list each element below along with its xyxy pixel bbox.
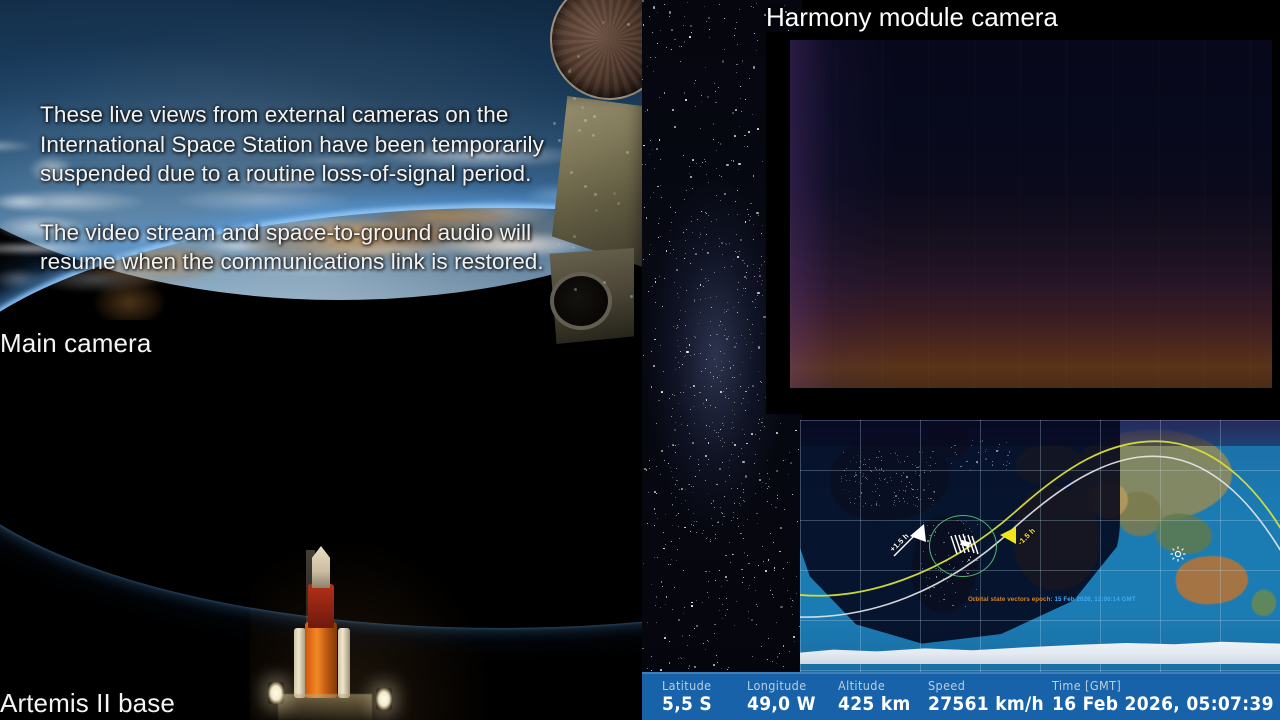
telemetry-field-time: Time [GMT]16 Feb 2026, 05:07:39 bbox=[1052, 678, 1274, 716]
telemetry-label-latitude: Latitude bbox=[662, 678, 712, 693]
telemetry-value-speed: 27561 km/h bbox=[928, 693, 1044, 716]
telemetry-value-altitude: 425 km bbox=[838, 693, 911, 716]
harmony-camera-panel[interactable] bbox=[766, 32, 1280, 414]
los-paragraph-2: The video stream and space-to-ground aud… bbox=[40, 218, 600, 277]
hardware-detail-dot bbox=[626, 151, 629, 154]
sun-position-icon bbox=[1170, 546, 1186, 562]
harmony-video-feed bbox=[790, 40, 1272, 388]
epoch-value: 15 Feb 2026, 12:00:14 GMT bbox=[1054, 596, 1135, 603]
harmony-camera-label: Harmony module camera bbox=[766, 2, 1058, 33]
telemetry-value-latitude: 5,5 S bbox=[662, 693, 712, 716]
orion-upper-stage bbox=[308, 584, 334, 628]
past-ground-track bbox=[800, 456, 1280, 617]
telemetry-value-longitude: 49,0 W bbox=[747, 693, 816, 716]
pad-floodlight-right bbox=[376, 688, 392, 710]
telemetry-field-speed: Speed27561 km/h bbox=[928, 678, 1044, 716]
telemetry-bar: Latitude5,5 SLongitude49,0 WAltitude425 … bbox=[642, 672, 1280, 720]
stream-composite: These live views from external cameras o… bbox=[0, 0, 1280, 720]
orbital-epoch-note: Orbital state vectors epoch: 15 Feb 2026… bbox=[968, 596, 1136, 603]
iss-tracker-map[interactable]: +1.5 h -1.5 h Orbital state vectors epoc… bbox=[800, 420, 1280, 672]
loss-of-signal-message: These live views from external cameras o… bbox=[40, 100, 600, 277]
pad-floodlight-left bbox=[268, 682, 284, 704]
artemis-launch-pad bbox=[250, 490, 490, 720]
hardware-detail-dot bbox=[577, 55, 580, 58]
hardware-detail-dot bbox=[630, 295, 633, 298]
hardware-detail-dot bbox=[617, 202, 620, 205]
telemetry-label-longitude: Longitude bbox=[747, 678, 816, 693]
future-ground-track bbox=[800, 441, 1280, 595]
telemetry-field-altitude: Altitude425 km bbox=[838, 678, 911, 716]
main-camera-panel[interactable]: These live views from external cameras o… bbox=[0, 0, 642, 720]
los-paragraph-1: These live views from external cameras o… bbox=[40, 100, 600, 189]
telemetry-label-speed: Speed bbox=[928, 678, 1044, 693]
telemetry-field-longitude: Longitude49,0 W bbox=[747, 678, 816, 716]
iss-station-icon[interactable] bbox=[948, 532, 982, 558]
main-camera-label: Main camera bbox=[0, 328, 151, 359]
sls-core-stage bbox=[305, 622, 337, 698]
antenna-dish-icon bbox=[539, 0, 642, 111]
epoch-label: Orbital state vectors epoch: bbox=[968, 596, 1053, 603]
telemetry-value-time: 16 Feb 2026, 05:07:39 bbox=[1052, 693, 1274, 716]
solid-rocket-booster-right bbox=[338, 628, 350, 698]
telemetry-field-latitude: Latitude5,5 S bbox=[662, 678, 712, 716]
hardware-detail-dot bbox=[613, 192, 616, 195]
telemetry-label-time: Time [GMT] bbox=[1052, 678, 1274, 693]
artemis-base-label: Artemis II base bbox=[0, 688, 175, 719]
orbit-ground-tracks bbox=[800, 420, 1280, 672]
telemetry-label-altitude: Altitude bbox=[838, 678, 911, 693]
hardware-detail-dot bbox=[568, 70, 571, 73]
pad-base bbox=[278, 694, 372, 720]
